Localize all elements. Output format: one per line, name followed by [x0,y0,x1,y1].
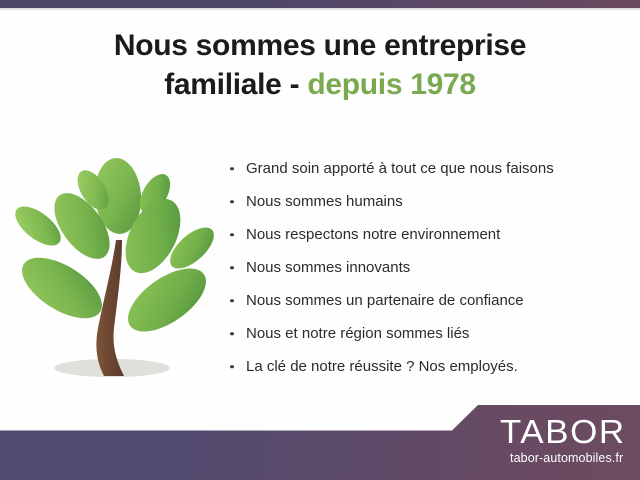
footer-bar: TABOR tabor-automobiles.fr [0,405,640,480]
slide-title-line2: familiale - depuis 1978 [0,65,640,104]
brand-logo-tagline: tabor-automobiles.fr [507,450,626,466]
slide-title-line2-dark: familiale - [164,68,307,101]
list-item-label: Nous respectons notre environnement [246,226,500,243]
tree-icon [12,148,227,388]
brand-logo: TABOR tabor-automobiles.fr [507,415,626,466]
bullet-marker-icon [230,299,234,303]
list-item-label: Nous sommes humains [246,193,403,210]
list-item-label: Nous sommes un partenaire de confiance [246,292,524,309]
list-item: Nous sommes innovants [228,251,628,284]
bullet-marker-icon [230,167,234,171]
bullet-marker-icon [230,332,234,336]
list-item: Nous respectons notre environnement [228,218,628,251]
list-item: Nous sommes un partenaire de confiance [228,284,628,317]
list-item: La clé de notre réussite ? Nos employés. [228,350,628,383]
list-item-label: Nous et notre région sommes liés [246,325,469,342]
slide-canvas: Nous sommes une entreprise familiale - d… [0,0,640,480]
list-item-label: Nous sommes innovants [246,259,410,276]
top-accent-band [0,0,640,8]
slide-title: Nous sommes une entreprise familiale - d… [0,26,640,104]
list-item-label: Grand soin apporté à tout ce que nous fa… [246,160,554,177]
bullet-marker-icon [230,233,234,237]
brand-logo-wordmark: TABOR [500,415,626,449]
list-item: Nous sommes humains [228,185,628,218]
list-item: Grand soin apporté à tout ce que nous fa… [228,152,628,185]
bullet-marker-icon [230,200,234,204]
slide-title-line1: Nous sommes une entreprise [114,29,526,62]
top-accent-band-shadow [0,8,640,11]
bullet-marker-icon [230,266,234,270]
bullet-marker-icon [230,365,234,369]
slide-title-highlight: depuis 1978 [307,68,475,101]
list-item: Nous et notre région sommes liés [228,317,628,350]
benefits-list: Grand soin apporté à tout ce que nous fa… [228,152,628,383]
list-item-label: La clé de notre réussite ? Nos employés. [246,358,518,375]
